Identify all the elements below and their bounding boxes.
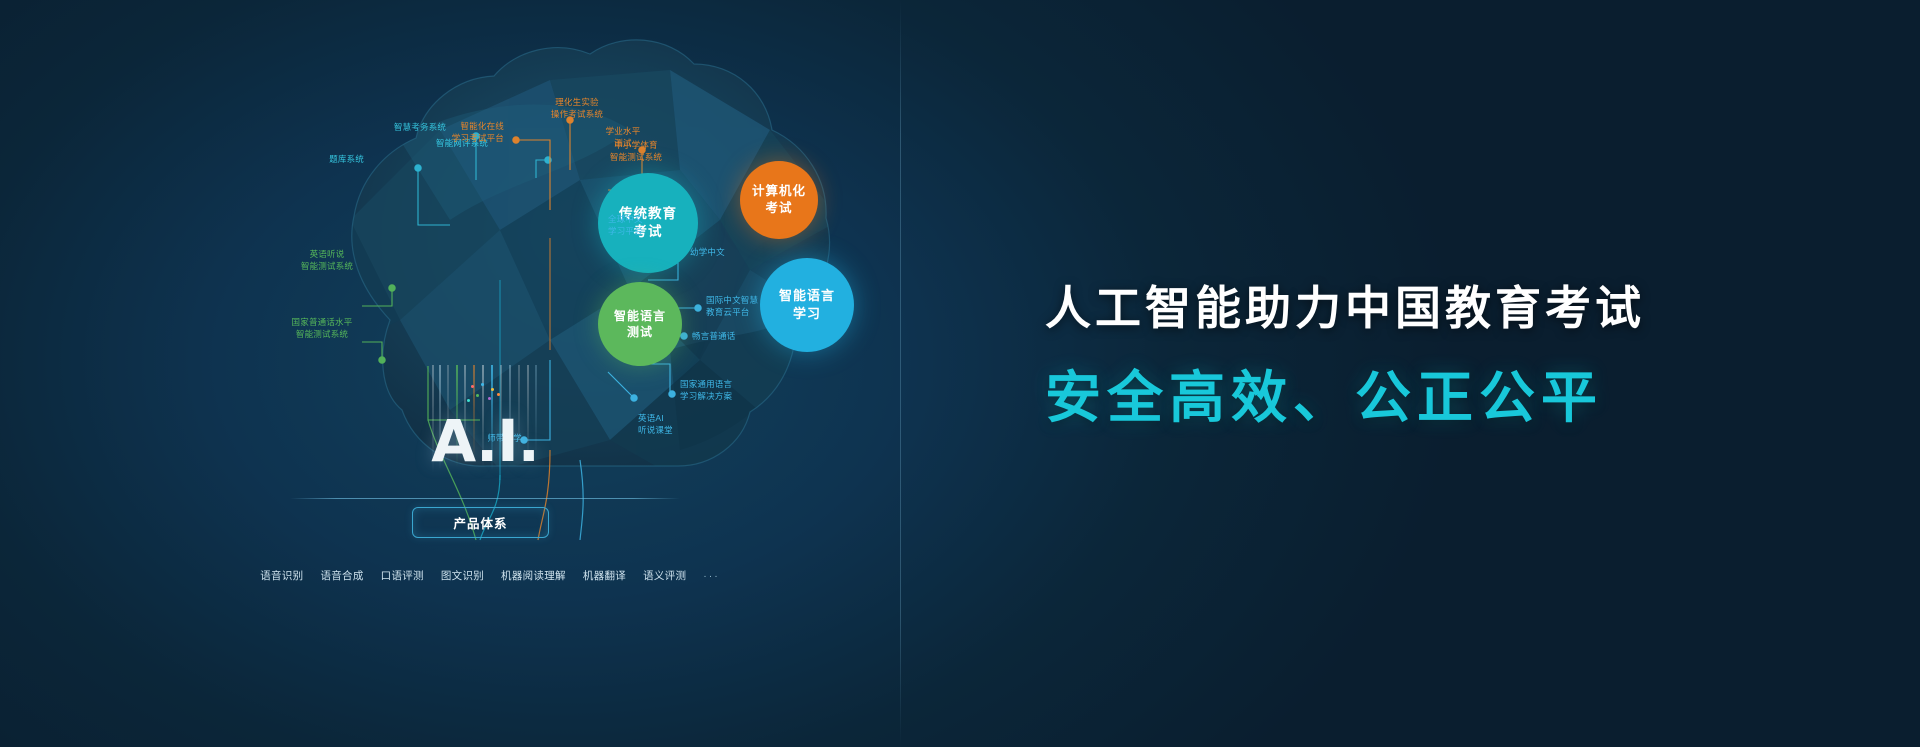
baseline-rule — [290, 498, 680, 499]
label-intelligent-online-learning-exam-platform: 智能化在线 学习考试平台 — [390, 120, 504, 145]
label-english-ai-listening-speaking-classroom: 英语AI 听说课堂 — [638, 412, 708, 437]
headline-block: 人工智能助力中国教育考试 安全高效、公正公平 — [1045, 280, 1865, 431]
label-question-bank-system: 题库系统 — [276, 153, 364, 165]
label-primary-secondary-sports-intelligent-test-system: 中小学体育 智能测试系统 — [588, 139, 684, 164]
tag-more-ellipsis: ··· — [703, 570, 720, 582]
label-global-chinese-learning-platform: 全球中文 学习平台 — [608, 213, 694, 238]
circle-label-line2: 考试 — [765, 200, 792, 217]
ai-wordmark: A.I. — [430, 365, 540, 500]
tag-speech-synthesis[interactable]: 语音合成 — [320, 568, 363, 583]
circle-label-line1: 计算机化 — [752, 183, 806, 200]
circle-label-line1: 智能语言 — [614, 308, 666, 324]
capability-tag-list: 语音识别 语音合成 口语评测 图文识别 机器阅读理解 机器翻译 语义评测 ··· — [280, 568, 700, 583]
product-system-label: 产品体系 — [453, 513, 507, 532]
circle-intelligent-language-testing[interactable]: 智能语言 测试 — [598, 282, 682, 366]
tag-speech-recognition[interactable]: 语音识别 — [260, 568, 303, 583]
headline-primary: 人工智能助力中国教育考试 — [1045, 280, 1865, 338]
tag-image-text-recognition[interactable]: 图文识别 — [441, 568, 484, 583]
headline-secondary: 安全高效、公正公平 — [1045, 364, 1865, 431]
tag-machine-reading-comprehension[interactable]: 机器阅读理解 — [501, 568, 566, 583]
label-english-listening-speaking-intelligent-test-system: 英语听说 智能测试系统 — [280, 248, 374, 273]
tag-spoken-language-assessment[interactable]: 口语评测 — [381, 568, 424, 583]
label-international-chinese-smart-education-cloud-platform: 国际中文智慧 教育云平台 — [706, 294, 806, 319]
tag-semantic-assessment[interactable]: 语义评测 — [643, 568, 686, 583]
product-system-button[interactable]: 产品体系 — [412, 507, 549, 538]
label-physics-chemistry-biology-lab-exam-system: 理化生实验 操作考试系统 — [522, 96, 632, 121]
brain-diagram: 传统教育 考试 计算机化 考试 智能语言 测试 智能语言 学习 智慧考务系统 智… — [250, 20, 910, 730]
brain-shape — [310, 20, 870, 490]
label-early-chinese-learning: 幼学中文 — [690, 246, 764, 258]
label-changyan-putonghua: 畅言普通话 — [692, 330, 778, 342]
ai-wordmark-text: A.I. — [430, 407, 540, 475]
tag-machine-translation[interactable]: 机器翻译 — [583, 568, 626, 583]
label-national-common-language-learning-solution: 国家通用语言 学习解决方案 — [680, 378, 776, 403]
circle-computerized-exam[interactable]: 计算机化 考试 — [740, 161, 818, 239]
label-national-putonghua-proficiency-intelligent-test-system: 国家普通话水平 智能测试系统 — [266, 316, 378, 341]
hero-banner: 传统教育 考试 计算机化 考试 智能语言 测试 智能语言 学习 智慧考务系统 智… — [0, 0, 1920, 747]
circle-label-line2: 测试 — [627, 324, 653, 340]
